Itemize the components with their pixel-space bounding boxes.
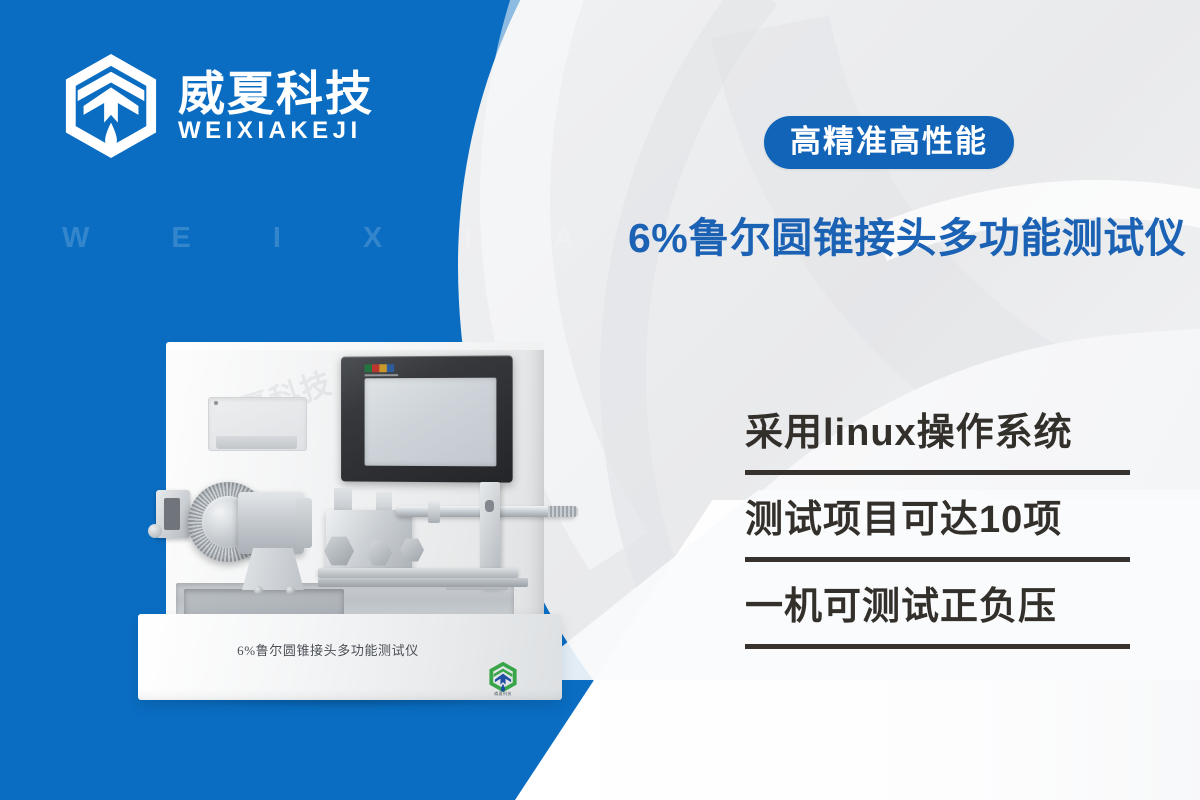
- feature-divider: [745, 557, 1130, 562]
- brand-lockup: 威夏科技 WEIXIAKEJI: [62, 52, 374, 160]
- banner-stage: 威夏科技 WEIXIAKEJI W E I X I A K E J I 高精准高…: [0, 0, 1200, 800]
- stand-bolt-icon: [254, 586, 263, 595]
- torque-drum: [238, 492, 304, 554]
- list-item: 采用linux操作系统: [745, 414, 1130, 475]
- hmi-brand-subline: [365, 374, 399, 376]
- brand-name-en: WEIXIAKEJI: [178, 119, 374, 143]
- feature-divider: [745, 470, 1130, 475]
- feature-list: 采用linux操作系统 测试项目可达10项 一机可测试正负压: [745, 414, 1130, 675]
- hmi-display-area: [365, 378, 497, 467]
- l-bracket-bore: [485, 500, 494, 512]
- machine-front-label: 6%鲁尔圆锥接头多功能测试仪: [138, 640, 518, 659]
- feature-label: 测试项目可达10项: [745, 501, 1130, 557]
- feature-divider: [745, 644, 1130, 649]
- tray-screw-icon: [214, 401, 218, 405]
- accessory-tray-lip: [216, 436, 297, 449]
- shaft-threaded-tip: [548, 506, 578, 517]
- shaft-collar: [428, 500, 440, 523]
- status-badge: 高精准高性能: [764, 116, 1014, 169]
- machine-housing-top-edge: [166, 342, 544, 350]
- touchscreen-hmi-icon: [341, 355, 513, 482]
- linear-rail: [318, 568, 518, 578]
- product-photo: 威夏科技 6%鲁: [128, 340, 583, 730]
- feature-label: 采用linux操作系统: [745, 414, 1130, 470]
- linear-rail-base: [318, 578, 528, 587]
- list-item: 一机可测试正负压: [745, 588, 1130, 649]
- feature-label: 一机可测试正负压: [745, 588, 1130, 644]
- left-adjust-knob: [148, 524, 162, 538]
- list-item: 测试项目可达10项: [745, 501, 1130, 562]
- hexagon-arrow-logo-icon: [62, 52, 160, 160]
- torque-drum-end-cap: [296, 498, 312, 548]
- left-clamp-slot: [164, 498, 180, 530]
- brand-name-cn: 威夏科技: [178, 70, 374, 117]
- machine-logo-caption: 威夏科技: [480, 692, 526, 700]
- brand-text: 威夏科技 WEIXIAKEJI: [178, 70, 374, 143]
- stand-bolt-icon: [286, 586, 295, 595]
- page-title: 6%鲁尔圆锥接头多功能测试仪: [628, 214, 1186, 263]
- hmi-brand-stripe-icon: [365, 364, 395, 372]
- green-hexagon-logo-icon: [486, 660, 520, 694]
